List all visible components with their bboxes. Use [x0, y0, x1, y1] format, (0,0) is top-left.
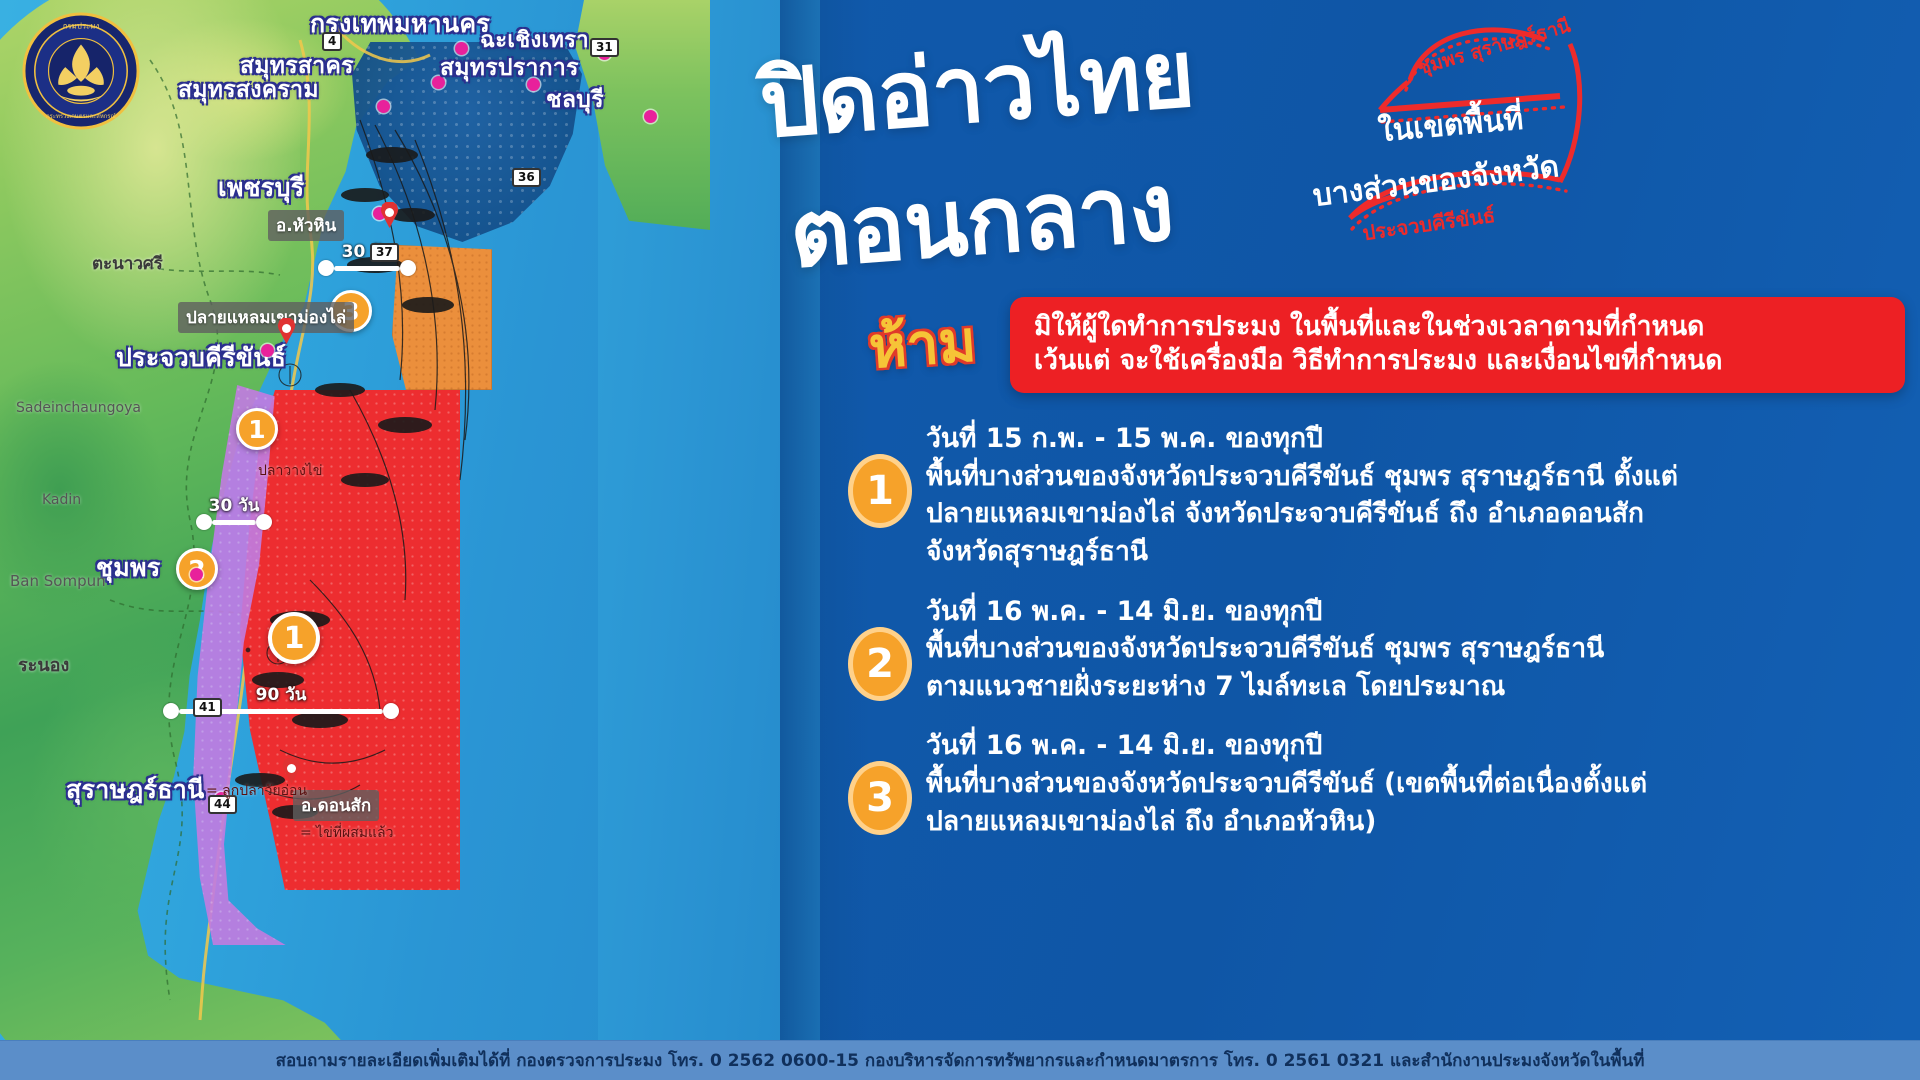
- map-label-surat-thani: สุราษฎร์ธานี: [66, 770, 205, 810]
- item-line: วันที่ 16 พ.ค. - 14 มิ.ย. ของทุกปี: [926, 727, 1908, 765]
- item-line: วันที่ 15 ก.พ. - 15 พ.ค. ของทุกปี: [926, 420, 1908, 458]
- map-label-tanaosri: ตะนาวศรี: [92, 250, 163, 277]
- item-number-badge: 3: [848, 761, 912, 835]
- item-body: วันที่ 16 พ.ค. - 14 มิ.ย. ของทุกปี พื้นท…: [926, 727, 1908, 840]
- item-number-badge: 1: [848, 454, 912, 528]
- annotation-cluster: ชุมพร สุราษฎร์ธานี ในเขตพื้นที่ บางส่วนข…: [1230, 10, 1590, 250]
- item-number: 2: [866, 641, 894, 687]
- highway-shield-31: 31: [590, 38, 619, 57]
- map-marker-label-huahin: อ.หัวหิน: [268, 210, 344, 241]
- scale-30-day-north: 30 วัน: [318, 260, 416, 276]
- item-line: จังหวัดสุราษฎร์ธานี: [926, 533, 1908, 571]
- city-dot: [261, 344, 274, 357]
- item-number-badge: 2: [848, 627, 912, 701]
- scale-label: 30 วัน: [209, 492, 260, 519]
- item-line: ปลายแหลมเขาม่องไล่ ถึง อำเภอหัวหิน): [926, 803, 1908, 841]
- map-label-samut-songkhram: สมุทรสงคราม: [178, 72, 319, 108]
- dof-logo: กรมประมง กระทรวงเกษตรและสหกรณ์: [22, 12, 140, 130]
- map-legend-eggs: = ไข่ที่ผสมแล้ว: [300, 822, 393, 844]
- city-dot: [377, 100, 390, 113]
- prohibition-box: มิให้ผู้ใดทำการประมง ในพื้นที่และในช่วงเ…: [1010, 297, 1905, 393]
- map-label-sadeinchaungoya: Sadeinchaungoya: [16, 400, 141, 416]
- map-legend-larvae: = ลูกปลาวัยอ่อน: [206, 780, 307, 802]
- prohibition-word: ห้าม: [832, 294, 1013, 396]
- map-label-ranong: ระนอง: [18, 650, 69, 679]
- closure-items-list: 1 วันที่ 15 ก.พ. - 15 พ.ค. ของทุกปี พื้น…: [848, 420, 1908, 862]
- map-label-ban-sompun: Ban Sompun: [10, 572, 106, 590]
- content-panel: ปิดอ่าวไทย ตอนกลาง ชุมพร สุราษฎร์ธานี ใน…: [820, 0, 1920, 1040]
- item-line: วันที่ 16 พ.ค. - 14 มิ.ย. ของทุกปี: [926, 593, 1908, 631]
- map-marker-label-khaomonglai: ปลายแหลมเขาม่องไล่: [178, 302, 354, 333]
- page-title-line2: ตอนกลาง: [785, 132, 1179, 308]
- map-label-chonburi: ชลบุรี: [546, 82, 604, 118]
- prohibition-line2: เว้นแต่ จะใช้เครื่องมือ วิธีทำการประมง แ…: [1034, 344, 1881, 378]
- item-body: วันที่ 15 ก.พ. - 15 พ.ค. ของทุกปี พื้นที…: [926, 420, 1908, 571]
- list-item: 2 วันที่ 16 พ.ค. - 14 มิ.ย. ของทุกปี พื้…: [848, 593, 1908, 706]
- highway-shield-36: 36: [512, 168, 541, 187]
- city-dot: [190, 568, 203, 581]
- highway-shield-37: 37: [370, 243, 399, 262]
- map-label-samut-prakan: สมุทรปราการ: [440, 50, 579, 86]
- item-line: พื้นที่บางส่วนของจังหวัดประจวบคีรีขันธ์ …: [926, 630, 1908, 668]
- svg-text:กระทรวงเกษตรและสหกรณ์: กระทรวงเกษตรและสหกรณ์: [46, 112, 116, 120]
- svg-text:กรมประมง: กรมประมง: [63, 22, 100, 31]
- prohibition-row: ห้าม มิให้ผู้ใดทำการประมง ในพื้นที่และใน…: [835, 300, 1905, 390]
- footer-text: สอบถามรายละเอียดเพิ่มเติมได้ที่ กองตรวจก…: [276, 1047, 1645, 1074]
- scale-label: 90 วัน: [256, 681, 307, 708]
- highway-shield-4: 4: [322, 32, 342, 51]
- list-item: 3 วันที่ 16 พ.ค. - 14 มิ.ย. ของทุกปี พื้…: [848, 727, 1908, 840]
- city-dot: [644, 110, 657, 123]
- map-zone-number-1: 1: [268, 612, 320, 664]
- item-number: 1: [866, 468, 894, 514]
- map-label-phetchaburi: เพชรบุรี: [218, 168, 305, 208]
- item-line: พื้นที่บางส่วนของจังหวัดประจวบคีรีขันธ์ …: [926, 458, 1908, 496]
- list-item: 1 วันที่ 15 ก.พ. - 15 พ.ค. ของทุกปี พื้น…: [848, 420, 1908, 571]
- item-line: ตามแนวชายฝั่งระยะห่าง 7 ไมล์ทะเล โดยประม…: [926, 668, 1908, 706]
- map-legend-spawning: ปลาวางไข่: [258, 460, 323, 482]
- prohibition-line1: มิให้ผู้ใดทำการประมง ในพื้นที่และในช่วงเ…: [1034, 310, 1881, 344]
- map-label-kadin: Kadin: [42, 492, 81, 508]
- item-line: พื้นที่บางส่วนของจังหวัดประจวบคีรีขันธ์ …: [926, 765, 1908, 803]
- city-dot: [527, 78, 540, 91]
- footer-contact-bar: สอบถามรายละเอียดเพิ่มเติมได้ที่ กองตรวจก…: [0, 1040, 1920, 1080]
- map-panel: 30 วัน 30 วัน 90 วัน 3 1 2 1 กรุงเทพมหาน…: [0, 0, 820, 1040]
- item-body: วันที่ 16 พ.ค. - 14 มิ.ย. ของทุกปี พื้นท…: [926, 593, 1908, 706]
- scale-30-day-south: 30 วัน: [196, 514, 272, 530]
- map-label-prachuap: ประจวบคีรีขันธ์: [116, 338, 286, 378]
- highway-shield-41: 41: [193, 698, 222, 717]
- item-number: 3: [866, 775, 894, 821]
- map-zone-number-1-small: 1: [236, 408, 278, 450]
- item-line: ปลายแหลมเขาม่องไล่ จังหวัดประจวบคีรีขันธ…: [926, 495, 1908, 533]
